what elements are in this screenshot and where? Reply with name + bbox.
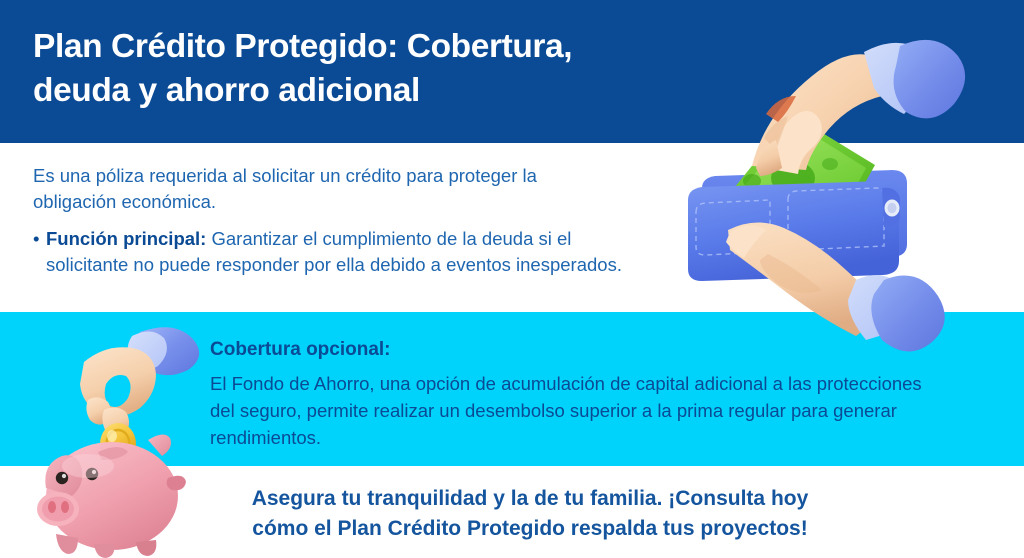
bullet-item-funcion-principal: • Función principal: Garantizar el cumpl… [33,226,633,278]
infographic-canvas: Plan Crédito Protegido: Cobertura, deuda… [0,0,1024,558]
page-title-line-1: Plan Crédito Protegido: Cobertura, [33,25,673,69]
optional-coverage-paragraph: El Fondo de Ahorro, una opción de acumul… [210,370,925,451]
bullet-lead-label: Función principal: [46,228,206,249]
cta-line-1: Asegura tu tranquilidad y la de tu famil… [210,484,850,514]
call-to-action-text: Asegura tu tranquilidad y la de tu famil… [210,484,850,544]
cta-line-2: cómo el Plan Crédito Protegido respalda … [210,514,850,544]
optional-coverage-heading: Cobertura opcional: [210,338,391,362]
intro-paragraph: Es una póliza requerida al solicitar un … [33,163,623,215]
page-title-line-2: deuda y ahorro adicional [33,69,673,113]
page-title: Plan Crédito Protegido: Cobertura, deuda… [33,25,673,113]
bullet-dot-icon: • [33,226,39,252]
bullet-text: Función principal: Garantizar el cumplim… [33,226,633,278]
